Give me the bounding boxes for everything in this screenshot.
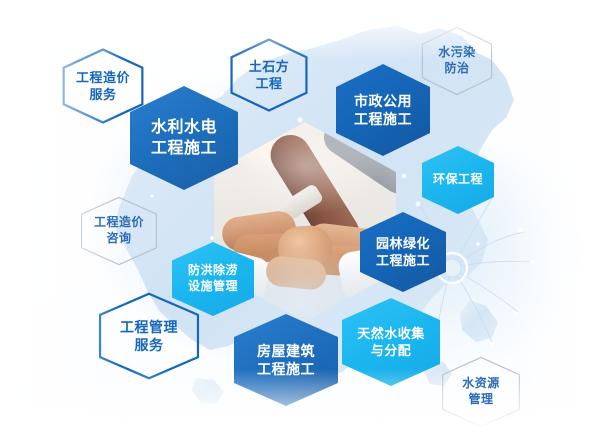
hexagon-water-pollution-control[interactable]: 水污染 防治	[421, 26, 493, 96]
hexagon-house-building-engineering-construction[interactable]: 房屋建筑 工程施工	[234, 314, 338, 406]
hexagon-earthwork-engineering[interactable]: 土石方 工程	[230, 38, 308, 112]
hexagon-landscaping-engineering-construction[interactable]: 园林绿化 工程施工	[360, 212, 446, 292]
hexagon-engineering-cost-consulting[interactable]: 工程造价 咨询	[80, 196, 158, 266]
hexagon-label: 水资源 管理	[462, 376, 500, 408]
hexagon-label: 水污染 防治	[438, 45, 476, 77]
hexagon-environmental-protection-engineering[interactable]: 环保工程	[422, 146, 494, 214]
hexagon-water-resource-management[interactable]: 水资源 管理	[441, 356, 521, 428]
hexagon-label: 防洪除涝 设施管理	[188, 263, 238, 295]
hexagon-municipal-public-works-construction[interactable]: 市政公用 工程施工	[336, 64, 430, 156]
hexagon-label: 市政公用 工程施工	[354, 92, 412, 129]
hexagon-label: 环保工程	[433, 172, 483, 188]
hexagon-label: 工程造价 服务	[76, 69, 130, 103]
hexagon-water-conservancy-hydropower-construction[interactable]: 水利水电 工程施工	[130, 86, 238, 190]
hexagon-label: 水利水电 工程施工	[151, 117, 217, 159]
hexagon-label: 土石方 工程	[249, 58, 290, 92]
hexagon-label: 天然水收集 与分配	[357, 325, 425, 359]
hexagon-label: 工程管理 服务	[120, 318, 178, 355]
hexagon-natural-water-collection-distribution[interactable]: 天然水收集 与分配	[342, 298, 440, 386]
infographic-canvas: 工程造价 服务土石方 工程水利水电 工程施工市政公用 工程施工水污染 防治环保工…	[0, 0, 600, 439]
hexagon-label: 房屋建筑 工程施工	[257, 342, 315, 379]
hexagon-label: 工程造价 咨询	[94, 215, 144, 247]
hexagon-label: 园林绿化 工程施工	[376, 235, 430, 269]
hexagon-engineering-management-service[interactable]: 工程管理 服务	[98, 292, 200, 380]
